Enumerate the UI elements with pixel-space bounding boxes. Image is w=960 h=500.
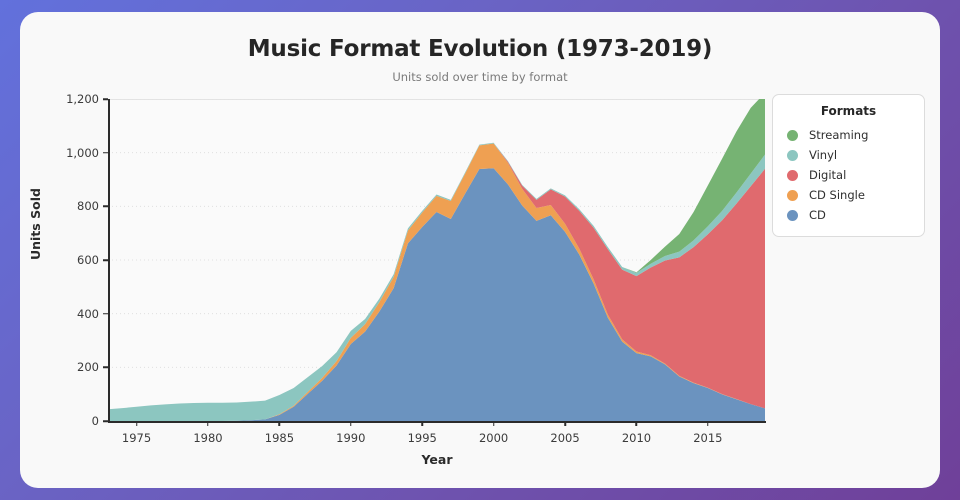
legend-title: Formats [783,104,914,118]
legend-item-vinyl[interactable]: Vinyl [783,145,914,165]
x-axis-label: Year [108,452,766,467]
chart-title: Music Format Evolution (1973-2019) [20,36,940,62]
legend-swatch-icon [787,210,798,221]
legend-item-cd[interactable]: CD [783,205,914,225]
plot-area [108,99,765,421]
x-tick-label: 2000 [479,431,508,445]
x-tick-label: 1980 [193,431,222,445]
legend: Formats StreamingVinylDigitalCD SingleCD [772,94,925,237]
y-tick-label: 1,200 [66,92,99,106]
y-tick-label: 0 [92,414,99,428]
legend-swatch-icon [787,170,798,181]
x-tick-label: 2010 [622,431,651,445]
legend-item-label: Vinyl [809,148,837,162]
legend-item-label: Digital [809,168,846,182]
y-tick-label: 1,000 [66,146,99,160]
y-tick-label: 200 [77,360,99,374]
x-tick-label: 1995 [408,431,437,445]
legend-item-label: CD Single [809,188,865,202]
y-axis-label: Units Sold [28,188,43,260]
stacked-area-series [108,99,765,421]
legend-item-cd-single[interactable]: CD Single [783,185,914,205]
x-tick-label: 1985 [265,431,294,445]
x-axis-line [108,421,766,423]
y-tick-label: 600 [77,253,99,267]
legend-items: StreamingVinylDigitalCD SingleCD [783,125,914,225]
legend-item-label: Streaming [809,128,868,142]
legend-swatch-icon [787,190,798,201]
chart-card: Music Format Evolution (1973-2019) Units… [20,12,940,488]
legend-swatch-icon [787,130,798,141]
y-axis-line [108,99,110,421]
legend-item-label: CD [809,208,826,222]
x-tick-label: 2015 [693,431,722,445]
chart-subtitle: Units sold over time by format [20,70,940,84]
x-tick-label: 1990 [336,431,365,445]
x-tick-label: 2005 [550,431,579,445]
legend-swatch-icon [787,150,798,161]
y-tick-label: 400 [77,307,99,321]
legend-item-streaming[interactable]: Streaming [783,125,914,145]
x-tick-label: 1975 [122,431,151,445]
y-tick-label: 800 [77,199,99,213]
legend-item-digital[interactable]: Digital [783,165,914,185]
